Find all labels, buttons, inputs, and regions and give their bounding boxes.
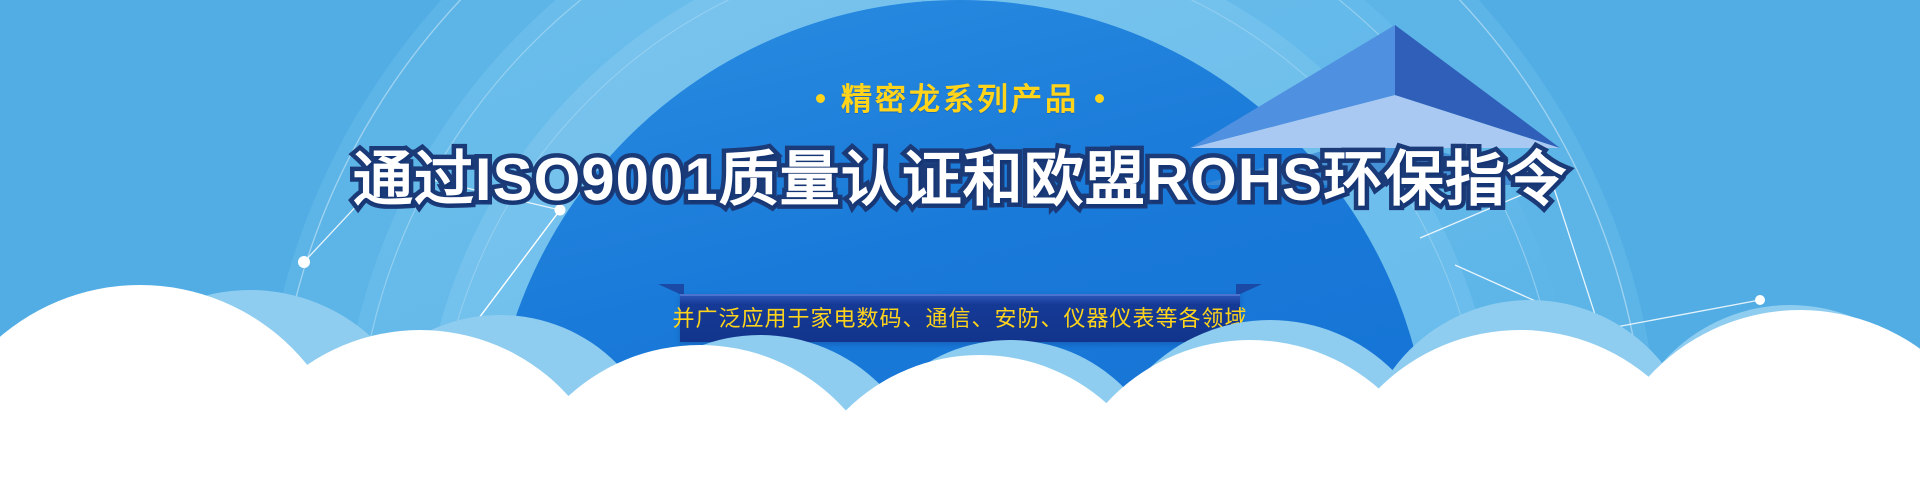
promo-banner: 精密龙系列产品 通过ISO9001质量认证和欧盟ROHS环保指令 并广泛应用于家… xyxy=(0,0,1920,480)
cloud-band xyxy=(0,0,1920,480)
